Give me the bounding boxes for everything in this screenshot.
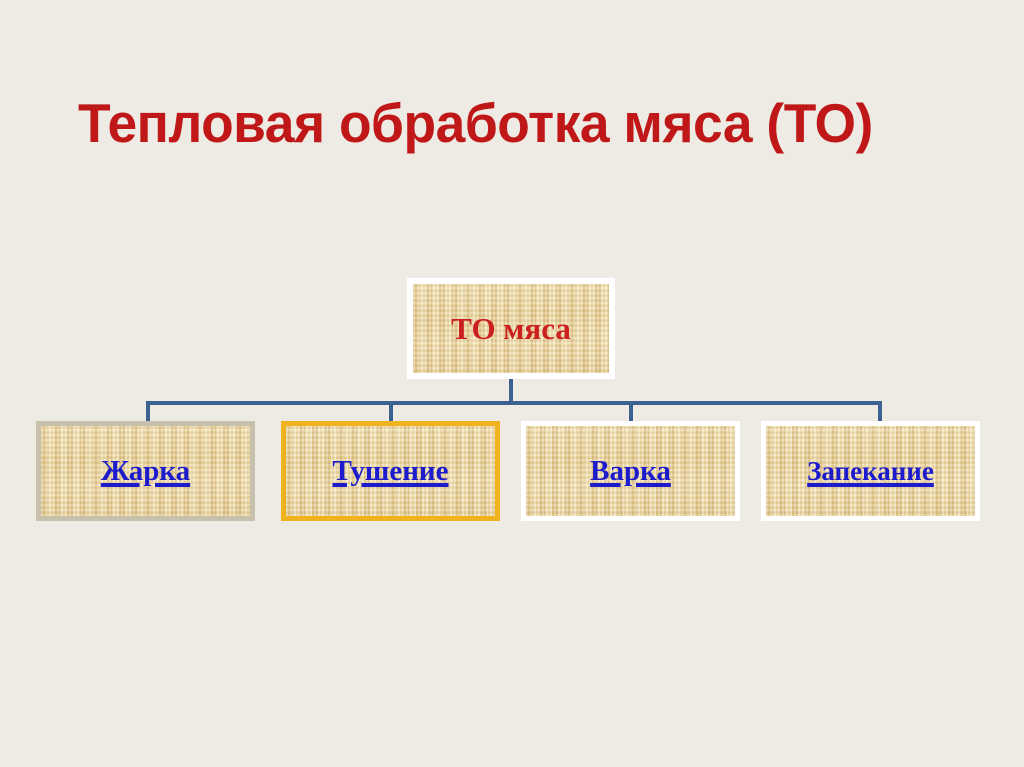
connector-drop-zapekanie	[878, 401, 882, 423]
tree-node-varka[interactable]: Варка	[521, 421, 740, 521]
tree-node-zharka[interactable]: Жарка	[36, 421, 255, 521]
tree-node-root-label: ТО мяса	[451, 311, 571, 347]
tree-node-varka-label[interactable]: Варка	[590, 455, 671, 488]
tree-node-zapekanie-label[interactable]: Запекание	[807, 456, 934, 487]
tree-node-tushenie-label[interactable]: Тушение	[332, 455, 448, 488]
connector-drop-zharka	[146, 401, 150, 423]
page-title: Тепловая обработка мяса (ТО)	[78, 91, 932, 155]
tree-node-tushenie[interactable]: Тушение	[281, 421, 500, 521]
connector-bus	[146, 401, 882, 405]
connector-root-stem	[509, 379, 513, 403]
slide-canvas: Тепловая обработка мяса (ТО) ТО мяса Жар…	[0, 0, 1024, 767]
tree-node-zharka-label[interactable]: Жарка	[101, 455, 190, 488]
tree-node-root: ТО мяса	[407, 278, 615, 379]
connector-drop-tushenie	[389, 401, 393, 423]
tree-node-zapekanie[interactable]: Запекание	[761, 421, 980, 521]
connector-drop-varka	[629, 401, 633, 423]
